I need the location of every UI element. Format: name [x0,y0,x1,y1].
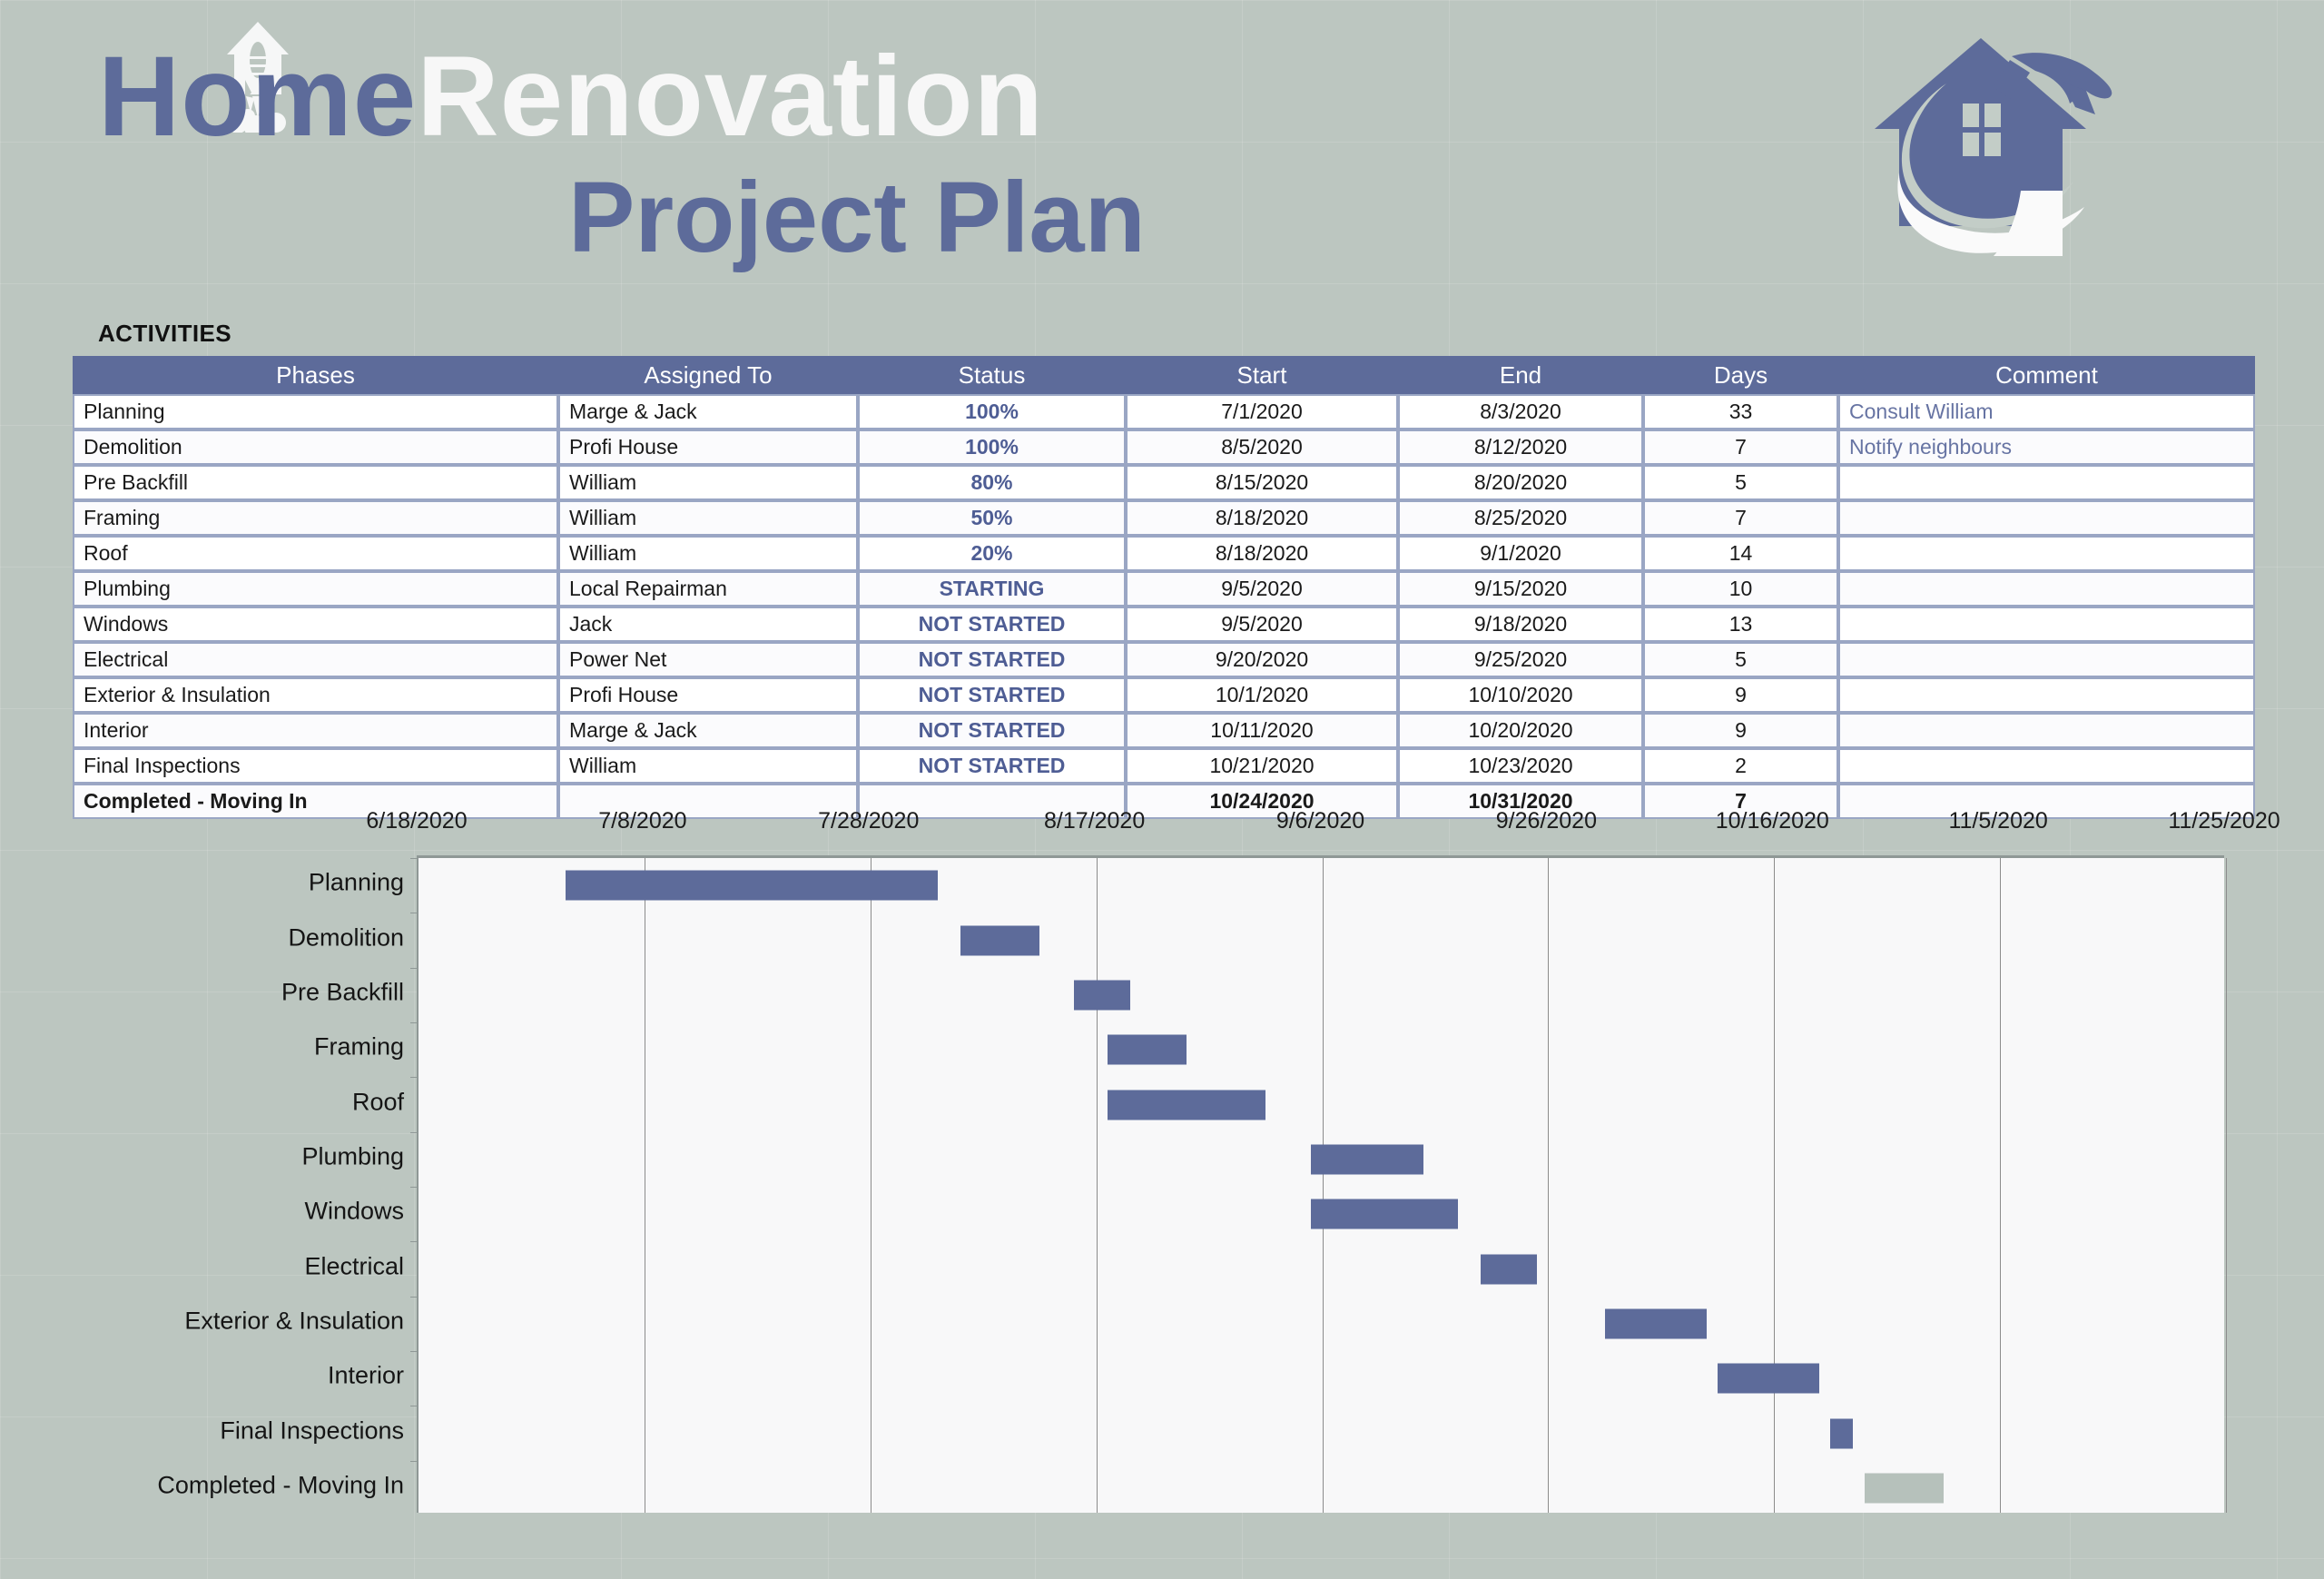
axis-tick-mark [410,1241,419,1242]
gridline [1323,858,1324,1513]
cell-assigned: Marge & Jack [558,713,858,748]
cell-assigned: William [558,500,858,536]
cell-comment [1838,536,2255,571]
cell-comment [1838,713,2255,748]
cell-assigned: Profi House [558,677,858,713]
gridline [2000,858,2001,1513]
cell-end: 10/10/2020 [1398,677,1643,713]
main-title: HomeRenovation [98,40,1551,153]
cell-start: 8/5/2020 [1126,429,1398,465]
cell-assigned: Marge & Jack [558,394,858,429]
cell-comment: Consult William [1838,394,2255,429]
axis-tick-label: 8/17/2020 [1044,808,1145,834]
cell-comment: Notify neighbours [1838,429,2255,465]
axis-tick-mark [410,1297,419,1298]
cell-phase: Interior [73,713,558,748]
gantt-bar[interactable] [1074,980,1130,1010]
cell-comment [1838,607,2255,642]
table-row[interactable]: Final InspectionsWilliamNOT STARTED10/21… [73,748,2255,784]
gantt-category-label: Pre Backfill [0,978,404,1006]
gantt-category-label: Interior [0,1362,404,1390]
activities-section-label: ACTIVITIES [98,320,231,348]
gantt-bar[interactable] [1481,1254,1537,1284]
cell-days: 7 [1643,429,1838,465]
cell-start: 9/5/2020 [1126,571,1398,607]
activities-table: Phases Assigned To Status Start End Days… [73,356,2255,819]
table-row[interactable]: Pre BackfillWilliam80%8/15/20208/20/2020… [73,465,2255,500]
axis-tick-label: 10/16/2020 [1716,808,1829,834]
axis-tick-label: 6/18/2020 [366,808,467,834]
gantt-category-label: Final Inspections [0,1416,404,1445]
cell-days: 7 [1643,500,1838,536]
gantt-bar[interactable] [1605,1308,1707,1338]
cell-assigned: William [558,748,858,784]
gantt-bar[interactable] [1311,1144,1423,1174]
axis-tick-mark [410,913,419,913]
cell-phase: Electrical [73,642,558,677]
gantt-bar[interactable] [1830,1418,1853,1448]
cell-end: 9/1/2020 [1398,536,1643,571]
title-renovation: Renovation [417,34,1044,160]
cell-end: 8/20/2020 [1398,465,1643,500]
gantt-bar[interactable] [1718,1364,1819,1394]
cell-status: NOT STARTED [858,713,1126,748]
axis-tick-label: 9/6/2020 [1276,808,1364,834]
table-row[interactable]: FramingWilliam50%8/18/20208/25/20207 [73,500,2255,536]
table-row[interactable]: ElectricalPower NetNOT STARTED9/20/20209… [73,642,2255,677]
title-home: Home [98,34,417,160]
table-row[interactable]: DemolitionProfi House100%8/5/20208/12/20… [73,429,2255,465]
cell-start: 10/1/2020 [1126,677,1398,713]
axis-tick-mark [410,1351,419,1352]
cell-days: 5 [1643,642,1838,677]
gantt-bar[interactable] [1865,1473,1944,1503]
cell-status: 50% [858,500,1126,536]
axis-tick-mark [410,858,419,859]
page-header: HomeRenovation Project Plan [0,0,2324,320]
cell-start: 7/1/2020 [1126,394,1398,429]
table-row[interactable]: Exterior & InsulationProfi HouseNOT STAR… [73,677,2255,713]
cell-status: STARTING [858,571,1126,607]
gantt-x-axis: 6/18/20207/8/20207/28/20208/17/20209/6/2… [417,799,2224,852]
subtitle: Project Plan [568,168,1551,268]
cell-status: 80% [858,465,1126,500]
cell-status: NOT STARTED [858,642,1126,677]
cell-phase: Pre Backfill [73,465,558,500]
cell-assigned: Power Net [558,642,858,677]
cell-end: 8/25/2020 [1398,500,1643,536]
axis-tick-mark [410,1461,419,1462]
gantt-category-label: Plumbing [0,1142,404,1170]
cell-assigned: Profi House [558,429,858,465]
cell-end: 8/12/2020 [1398,429,1643,465]
gantt-chart: 6/18/20207/8/20207/28/20208/17/20209/6/2… [0,799,2324,1544]
cell-phase: Plumbing [73,571,558,607]
table-header-row: Phases Assigned To Status Start End Days… [73,356,2255,394]
cell-start: 9/20/2020 [1126,642,1398,677]
gridline [1097,858,1098,1513]
cell-days: 13 [1643,607,1838,642]
table-row[interactable]: RoofWilliam20%8/18/20209/1/202014 [73,536,2255,571]
title-block: HomeRenovation Project Plan [98,40,1551,268]
cell-phase: Final Inspections [73,748,558,784]
cell-assigned: William [558,536,858,571]
table-row[interactable]: WindowsJackNOT STARTED9/5/20209/18/20201… [73,607,2255,642]
cell-end: 9/15/2020 [1398,571,1643,607]
gridline [2226,858,2227,1513]
col-header-end[interactable]: End [1398,356,1643,394]
table-row[interactable]: PlanningMarge & Jack100%7/1/20208/3/2020… [73,394,2255,429]
gantt-plot-area [417,855,2224,1513]
gantt-category-label: Demolition [0,923,404,952]
gantt-bar[interactable] [1108,1035,1187,1065]
activities-table-body: PlanningMarge & Jack100%7/1/20208/3/2020… [73,394,2255,819]
gantt-bar[interactable] [1311,1199,1458,1229]
gridline [645,858,645,1513]
cell-days: 10 [1643,571,1838,607]
cell-comment [1838,677,2255,713]
axis-tick-mark [410,1406,419,1406]
cell-status: NOT STARTED [858,748,1126,784]
cell-phase: Exterior & Insulation [73,677,558,713]
house-hammer-logo [1852,13,2152,299]
cell-days: 5 [1643,465,1838,500]
cell-start: 10/21/2020 [1126,748,1398,784]
gantt-category-label: Framing [0,1033,404,1061]
cell-assigned: Jack [558,607,858,642]
cell-end: 10/20/2020 [1398,713,1643,748]
gantt-bar[interactable] [566,871,939,901]
cell-end: 9/25/2020 [1398,642,1643,677]
gantt-category-label: Electrical [0,1252,404,1280]
cell-days: 2 [1643,748,1838,784]
cell-start: 8/18/2020 [1126,536,1398,571]
col-header-days[interactable]: Days [1643,356,1838,394]
gantt-category-label: Windows [0,1198,404,1226]
col-header-comment[interactable]: Comment [1838,356,2255,394]
cell-start: 8/18/2020 [1126,500,1398,536]
axis-tick-mark [410,1187,419,1188]
table-row[interactable]: PlumbingLocal RepairmanSTARTING9/5/20209… [73,571,2255,607]
axis-tick-mark [410,1132,419,1133]
cell-status: NOT STARTED [858,607,1126,642]
cell-days: 33 [1643,394,1838,429]
gantt-bar[interactable] [1108,1090,1265,1120]
cell-start: 9/5/2020 [1126,607,1398,642]
gridline [1548,858,1549,1513]
cell-phase: Roof [73,536,558,571]
gridline [871,858,871,1513]
axis-tick-mark [410,1022,419,1023]
axis-tick-label: 11/25/2020 [2168,808,2280,834]
cell-days: 9 [1643,713,1838,748]
axis-tick-label: 7/8/2020 [598,808,686,834]
col-header-start[interactable]: Start [1126,356,1398,394]
cell-phase: Windows [73,607,558,642]
cell-start: 8/15/2020 [1126,465,1398,500]
cell-end: 8/3/2020 [1398,394,1643,429]
gantt-category-label: Completed - Moving In [0,1471,404,1499]
cell-end: 9/18/2020 [1398,607,1643,642]
gridline [1774,858,1775,1513]
cell-comment [1838,500,2255,536]
axis-tick-mark [410,968,419,969]
cell-status: 20% [858,536,1126,571]
cell-comment [1838,642,2255,677]
cell-comment [1838,748,2255,784]
axis-tick-label: 9/26/2020 [1496,808,1597,834]
cell-days: 9 [1643,677,1838,713]
cell-end: 10/23/2020 [1398,748,1643,784]
cell-phase: Planning [73,394,558,429]
cell-days: 14 [1643,536,1838,571]
gantt-category-label: Planning [0,869,404,897]
col-header-assigned[interactable]: Assigned To [558,356,858,394]
gantt-bar[interactable] [960,925,1039,955]
cell-assigned: William [558,465,858,500]
cell-assigned: Local Repairman [558,571,858,607]
table-row[interactable]: InteriorMarge & JackNOT STARTED10/11/202… [73,713,2255,748]
cell-comment [1838,571,2255,607]
cell-phase: Demolition [73,429,558,465]
col-header-status[interactable]: Status [858,356,1126,394]
cell-comment [1838,465,2255,500]
cell-status: 100% [858,429,1126,465]
gantt-category-label: Exterior & Insulation [0,1307,404,1335]
col-header-phases[interactable]: Phases [73,356,558,394]
gantt-category-label: Roof [0,1088,404,1116]
axis-tick-mark [410,1077,419,1078]
axis-tick-label: 11/5/2020 [1948,808,2047,834]
cell-status: NOT STARTED [858,677,1126,713]
cell-status: 100% [858,394,1126,429]
axis-tick-label: 7/28/2020 [818,808,919,834]
cell-start: 10/11/2020 [1126,713,1398,748]
cell-phase: Framing [73,500,558,536]
